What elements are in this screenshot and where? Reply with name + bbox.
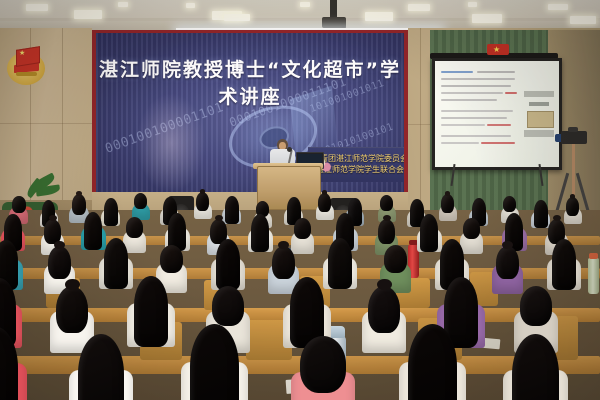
ceiling-light bbox=[186, 3, 195, 8]
audience-hair bbox=[552, 239, 576, 290]
audience-member bbox=[78, 334, 124, 400]
audience-hair bbox=[0, 326, 18, 400]
audience-member bbox=[552, 239, 576, 303]
audience-hair bbox=[272, 246, 295, 279]
audience-member bbox=[84, 212, 102, 260]
water-bottle bbox=[588, 258, 599, 294]
audience-member bbox=[318, 193, 331, 227]
hair-bun bbox=[278, 241, 288, 249]
audience-hair bbox=[294, 218, 311, 239]
hair-bun bbox=[377, 279, 392, 290]
hair-bun bbox=[200, 189, 206, 194]
projection-screen-frame bbox=[432, 58, 562, 170]
ceiling-light bbox=[224, 14, 250, 21]
audience-hair bbox=[104, 198, 118, 226]
audience-hair bbox=[520, 286, 552, 326]
lecture-hall-photo: ★ 000100100001101 0001001000011101 10100… bbox=[0, 0, 600, 400]
ceiling bbox=[0, 0, 600, 30]
ceiling-light bbox=[548, 4, 568, 10]
audience-member bbox=[126, 217, 143, 262]
audience-member bbox=[566, 197, 579, 231]
audience-hair bbox=[12, 196, 26, 213]
audience-hair bbox=[496, 246, 519, 279]
audience-member bbox=[190, 324, 239, 400]
audience-member bbox=[496, 246, 519, 306]
ceiling-light bbox=[408, 4, 430, 11]
audience-member bbox=[463, 218, 480, 263]
hair-bun bbox=[570, 194, 576, 199]
audience-member bbox=[196, 192, 209, 226]
audience-member bbox=[134, 276, 168, 366]
hair-bun bbox=[49, 215, 57, 221]
audience-member bbox=[512, 334, 559, 400]
audience-hair bbox=[84, 212, 102, 250]
audience-hair bbox=[368, 286, 400, 333]
audience-member bbox=[328, 238, 352, 302]
audience-hair bbox=[78, 334, 124, 400]
audience-hair bbox=[216, 239, 240, 290]
ceiling-light bbox=[118, 2, 128, 7]
audience-hair bbox=[328, 238, 352, 289]
audience-member bbox=[294, 218, 311, 263]
microphone bbox=[287, 147, 292, 152]
ceiling-light bbox=[468, 2, 477, 7]
hair-bun bbox=[65, 279, 80, 290]
audience-hair bbox=[56, 286, 88, 333]
audience-hair bbox=[126, 217, 143, 238]
hair-bun bbox=[502, 241, 512, 249]
camera-handle bbox=[568, 127, 578, 132]
audience-hair bbox=[378, 219, 395, 244]
audience-hair bbox=[503, 196, 516, 212]
hair-bun bbox=[215, 215, 223, 221]
projection-screen bbox=[435, 61, 559, 167]
audience-hair bbox=[160, 245, 183, 273]
audience-hair bbox=[566, 197, 579, 216]
audience-hair bbox=[300, 336, 346, 393]
audience-hair bbox=[104, 238, 128, 289]
bottle-cap bbox=[589, 253, 598, 259]
ceiling-light bbox=[300, 2, 310, 7]
audience-member bbox=[300, 336, 346, 400]
ceiling-light bbox=[472, 14, 502, 23]
audience-hair bbox=[48, 246, 71, 279]
hair-bun bbox=[445, 191, 451, 196]
ceiling-light bbox=[365, 12, 393, 21]
audience-member bbox=[420, 214, 438, 262]
ceiling-light bbox=[570, 16, 596, 24]
slide-subtitle-block bbox=[529, 102, 549, 106]
video-camera bbox=[561, 131, 587, 144]
hair-bun bbox=[322, 190, 328, 195]
tripod-column bbox=[572, 144, 575, 200]
ceiling-light bbox=[26, 4, 48, 11]
slide-image bbox=[527, 111, 554, 128]
audience-member bbox=[408, 324, 457, 400]
audience-hair bbox=[134, 193, 147, 209]
audience-hair bbox=[384, 245, 407, 273]
banner-title: 湛江师院教授博士“文化超市”学术讲座 bbox=[96, 55, 404, 109]
event-banner: 000100100001101 0001001000011101 1010010… bbox=[96, 33, 404, 192]
audience-hair bbox=[408, 324, 457, 400]
audience-member bbox=[104, 238, 128, 302]
audience-hair bbox=[534, 200, 548, 228]
audience-hair bbox=[251, 214, 269, 252]
audience-member bbox=[0, 326, 18, 400]
audience-hair bbox=[318, 193, 331, 212]
audience-hair bbox=[512, 334, 559, 400]
ceiling-light bbox=[74, 10, 102, 19]
audience-hair bbox=[190, 324, 239, 400]
audience-member bbox=[441, 194, 454, 228]
audience-member bbox=[251, 214, 269, 262]
red-flag-on-screen: ★ bbox=[487, 44, 509, 55]
communist-youth-league-emblem: ★ bbox=[7, 48, 47, 86]
hair-bun bbox=[553, 215, 561, 221]
hair-bun bbox=[383, 215, 391, 221]
audience-hair bbox=[212, 286, 244, 326]
slide-header-block bbox=[524, 91, 554, 97]
audience-hair bbox=[441, 194, 454, 213]
audience-hair bbox=[380, 195, 393, 211]
audience-member bbox=[368, 286, 400, 370]
hair-bun bbox=[76, 191, 82, 196]
audience-hair bbox=[196, 192, 209, 211]
hair-bun bbox=[54, 241, 64, 249]
audience-hair bbox=[420, 214, 438, 252]
audience-member bbox=[104, 198, 118, 233]
audience-member bbox=[534, 200, 548, 235]
audience-hair bbox=[463, 218, 480, 239]
audience-hair bbox=[134, 276, 168, 347]
slide-caption-block bbox=[524, 130, 554, 137]
